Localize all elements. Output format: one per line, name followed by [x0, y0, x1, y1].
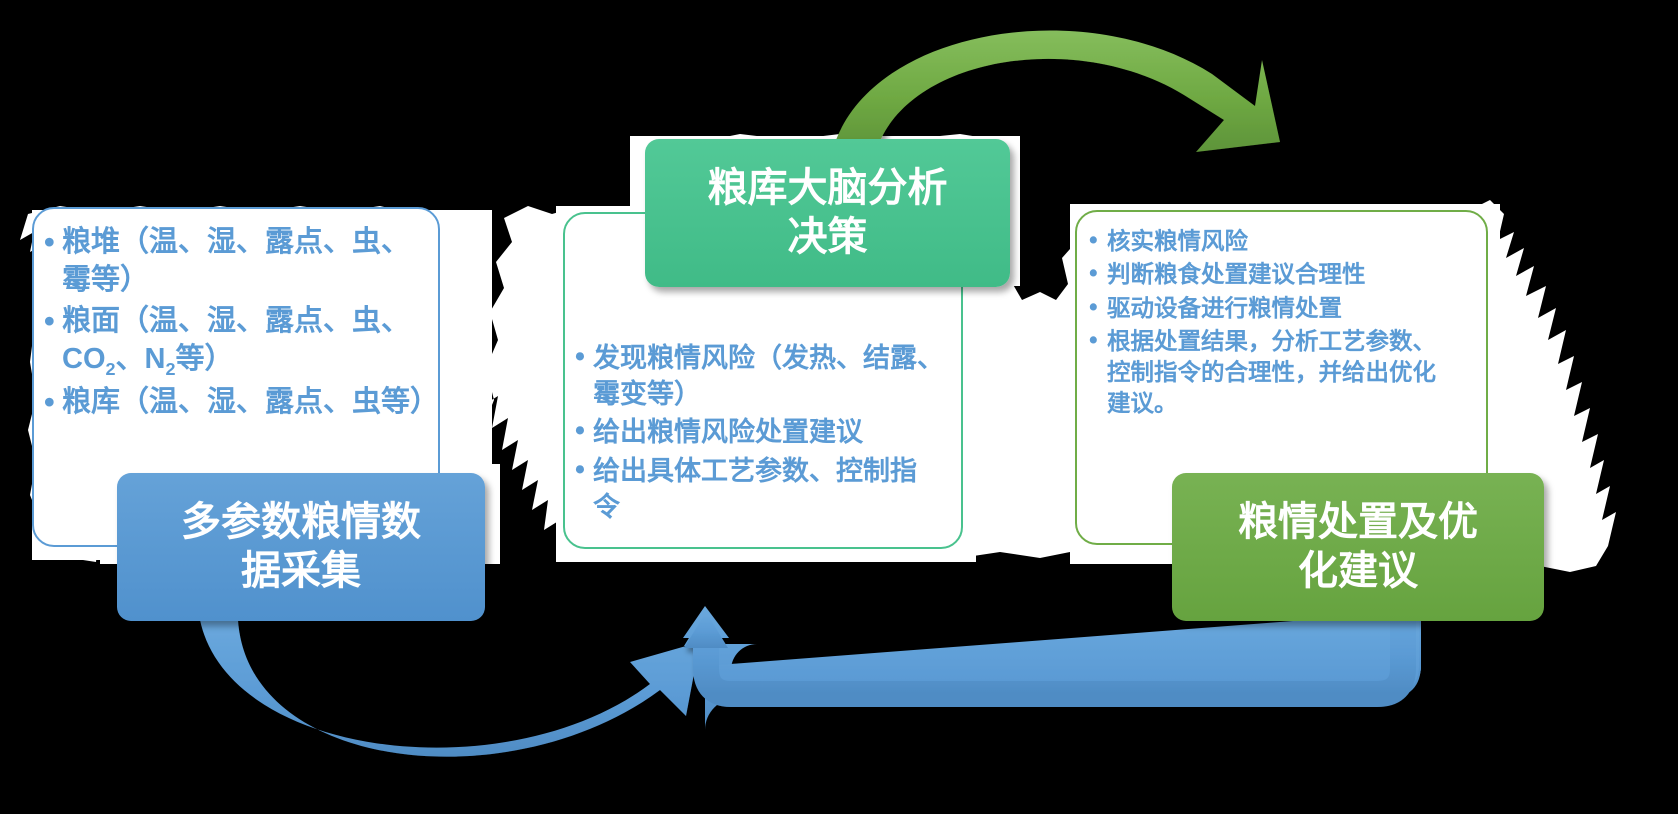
list-item: 判断粮食处置建议合理性 [1087, 259, 1480, 290]
plate-dispose-label: 粮情处置及优 化建议 [1238, 498, 1478, 596]
diagram-canvas: 粮堆（温、湿、露点、虫、 霉等） 粮面（温、湿、露点、虫、 CO2、N2等） 粮… [0, 0, 1678, 814]
list-item: 粮面（温、湿、露点、虫、 CO2、N2等） [42, 302, 428, 382]
plate-brain-label: 粮库大脑分析 决策 [708, 164, 948, 262]
plate-dispose[interactable]: 粮情处置及优 化建议 [1172, 473, 1544, 621]
list-item: 粮堆（温、湿、露点、虫、 霉等） [42, 223, 428, 300]
list-item: 驱动设备进行粮情处置 [1087, 293, 1480, 324]
list-item: 核实粮情风险 [1087, 226, 1480, 257]
list-item: 给出粮情风险处置建议 [573, 414, 955, 450]
list-item: 给出具体工艺参数、控制指 令 [573, 453, 955, 525]
list-item: 根据处置结果，分析工艺参数、 控制指令的合理性，并给出优化 建议。 [1087, 326, 1480, 420]
plate-collect-label: 多参数粮情数 据采集 [181, 498, 421, 596]
list-item: 发现粮情风险（发热、结露、 霉变等） [573, 340, 955, 412]
plate-collect[interactable]: 多参数粮情数 据采集 [117, 473, 485, 621]
bullet-list-dispose: 核实粮情风险 判断粮食处置建议合理性 驱动设备进行粮情处置 根据处置结果，分析工… [1077, 212, 1486, 420]
list-item: 粮库（温、湿、露点、虫等） [42, 383, 428, 421]
plate-brain[interactable]: 粮库大脑分析 决策 [645, 139, 1010, 287]
bullet-list-collect: 粮堆（温、湿、露点、虫、 霉等） 粮面（温、湿、露点、虫、 CO2、N2等） 粮… [34, 209, 438, 422]
